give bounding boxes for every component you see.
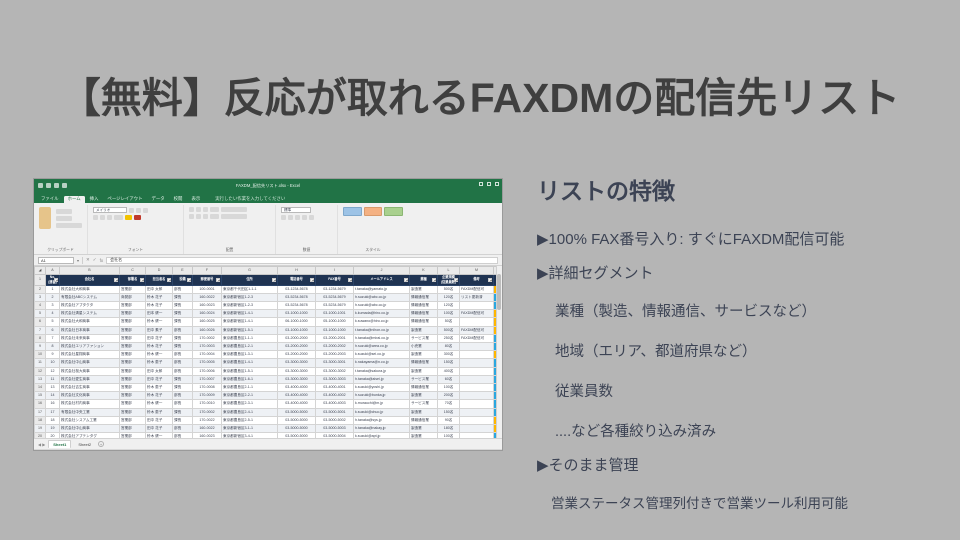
cell-fax[interactable]: 03-1000-1001 — [316, 310, 354, 318]
cell-zip[interactable]: 160-0022 — [193, 293, 222, 301]
cell-company[interactable]: 株式会社日本商事 — [60, 326, 120, 334]
cell-fax[interactable]: 03-5000-5002 — [316, 416, 354, 424]
formula-input[interactable]: 会社名 — [106, 257, 498, 264]
ribbon-group-styles[interactable]: スタイル — [338, 205, 408, 254]
cell-fax[interactable]: 03-2000-2003 — [316, 351, 354, 359]
row-header[interactable]: 20 — [35, 433, 46, 438]
vertical-scrollbar[interactable] — [496, 266, 502, 438]
cell-title[interactable]: 課長 — [173, 310, 193, 318]
cell-size[interactable]: 250名 — [438, 334, 460, 342]
cell-size[interactable]: 120名 — [438, 301, 460, 309]
cell-note[interactable]: FAXDM配信可 — [460, 285, 494, 293]
ribbon[interactable]: クリップボード メイリオ フォント — [34, 203, 502, 255]
decrease-font-icon[interactable] — [143, 208, 148, 213]
tab-file[interactable]: ファイル — [37, 196, 63, 203]
cell-dept[interactable]: 営業部 — [120, 424, 146, 432]
cell-addr[interactable]: 東京都新宿区1-2-3 — [222, 301, 278, 309]
cell-title[interactable]: 部長 — [173, 326, 193, 334]
cell-addr[interactable]: 東京都新宿区1-5-1 — [222, 326, 278, 334]
cell-company[interactable]: 株式会社中山商事 — [60, 424, 120, 432]
cell-zip[interactable]: 170-0008 — [193, 383, 222, 391]
cell-no[interactable]: 12 — [46, 367, 60, 375]
cancel-formula-icon[interactable]: ✕ — [86, 257, 90, 263]
align-bottom-icon[interactable] — [203, 207, 208, 212]
column-header-K[interactable]: K — [410, 267, 438, 275]
column-header-F[interactable]: F — [193, 267, 222, 275]
cell-size[interactable]: 60名 — [438, 375, 460, 383]
cell-addr[interactable]: 東京都新宿区1-2-3 — [222, 293, 278, 301]
cell-no[interactable]: 9 — [46, 351, 60, 359]
table-row[interactable]: 21株式会社大和商事営業部田中 太郎部長100-0001東京都千代田区1-1-1… — [35, 285, 503, 293]
cell-fax[interactable]: 03-5234-5679 — [316, 301, 354, 309]
cell-person[interactable]: 鈴木 花子 — [146, 392, 173, 400]
cell-mail[interactable]: h.suzuki@abc.co.jp — [354, 301, 410, 309]
cell-company[interactable]: 株式会社吉生商事 — [60, 383, 120, 391]
cell-tel[interactable]: 03-5000-5000 — [278, 433, 316, 438]
cell-size[interactable]: 80名 — [438, 342, 460, 350]
cell-company[interactable]: 株式会社清星システム — [60, 310, 120, 318]
enter-formula-icon[interactable]: ✓ — [93, 257, 97, 263]
cell-person[interactable]: 田中 花子 — [146, 375, 173, 383]
cell-industry[interactable]: 小売業 — [410, 342, 438, 350]
cell-size[interactable]: 150名 — [438, 359, 460, 367]
bold-icon[interactable] — [93, 215, 98, 220]
tab-home[interactable]: ホーム — [64, 196, 85, 203]
cell-zip[interactable]: 170-0007 — [193, 375, 222, 383]
table-row[interactable]: 65株式会社大和商事営業部鈴木 健一課長160-0025東京都新宿区1-4-10… — [35, 318, 503, 326]
cell-note[interactable]: FAXDM配信可 — [460, 334, 494, 342]
row-header[interactable]: 10 — [35, 351, 46, 359]
cell-company[interactable]: 株式会社シスアム工業 — [60, 416, 120, 424]
ribbon-group-alignment[interactable]: 配置 — [184, 205, 276, 254]
cell-no[interactable]: 8 — [46, 342, 60, 350]
cell-addr[interactable]: 東京都豊島区1-4-1 — [222, 359, 278, 367]
cell-no[interactable]: 7 — [46, 334, 60, 342]
cell-zip[interactable]: 170-0006 — [193, 367, 222, 375]
increase-decimal-icon[interactable] — [302, 215, 307, 220]
cell-zip[interactable]: 170-0022 — [193, 416, 222, 424]
cell-title[interactable]: 部長 — [173, 359, 193, 367]
table-row[interactable]: 1616株式会社村内商事営業部鈴木 健一部長170-0010東京都豊島区2-3-… — [35, 400, 503, 408]
table-row[interactable]: 98株式会社エリアファション営業部鈴木 花子課長170-0003東京都豊島区1-… — [35, 342, 503, 350]
cell-zip[interactable]: 170-0005 — [193, 359, 222, 367]
tab-insert[interactable]: 挿入 — [86, 196, 103, 203]
cell-mail[interactable]: h.tanaka@nakay.jp — [354, 424, 410, 432]
comma-icon[interactable] — [295, 215, 300, 220]
cell-dept[interactable]: 営業部 — [120, 318, 146, 326]
cell-person[interactable]: 鈴木 花子 — [146, 293, 173, 301]
copy-icon[interactable] — [56, 216, 72, 221]
cell-zip[interactable]: 170-0002 — [193, 408, 222, 416]
cell-size[interactable]: 90名 — [438, 416, 460, 424]
row-header[interactable]: 7 — [35, 326, 46, 334]
cell-note[interactable] — [460, 301, 494, 309]
cell-industry[interactable]: 製造業 — [410, 433, 438, 438]
cell-tel[interactable]: 03-2000-2000 — [278, 334, 316, 342]
filter-dropdown-icon[interactable] — [348, 278, 352, 282]
insert-function-icon[interactable]: fx — [100, 258, 104, 263]
cell-mail[interactable]: k.suzuki@sei.co.jp — [354, 351, 410, 359]
cell-tel[interactable]: 03-3000-3000 — [278, 359, 316, 367]
cell-size[interactable]: 70名 — [438, 400, 460, 408]
row-header[interactable]: 6 — [35, 318, 46, 326]
cell-fax[interactable]: 05-1000-1000 — [316, 318, 354, 326]
column-header-C[interactable]: C — [120, 267, 146, 275]
row-header[interactable]: 15 — [35, 392, 46, 400]
cell-mail[interactable]: t.tanaka@sakura.jp — [354, 367, 410, 375]
cell-title[interactable]: 課長 — [173, 334, 193, 342]
cell-tel[interactable]: 03-5000-5000 — [278, 424, 316, 432]
tab-view[interactable]: 表示 — [187, 196, 204, 203]
cell-company[interactable]: 株式会社大和商事 — [60, 318, 120, 326]
cell-tel[interactable]: 03-4000-4000 — [278, 392, 316, 400]
cell-title[interactable]: 部長 — [173, 351, 193, 359]
indent-icon[interactable] — [210, 214, 219, 219]
cell-addr[interactable]: 東京都新宿区3-1-1 — [222, 424, 278, 432]
ribbon-tab-strip[interactable]: ファイル ホーム 挿入 ページレイアウト データ 校閲 表示 実行したい作業を入… — [34, 192, 502, 203]
ribbon-group-clipboard[interactable]: クリップボード — [34, 205, 88, 254]
tab-data[interactable]: データ — [147, 196, 168, 203]
align-top-icon[interactable] — [189, 207, 194, 212]
cell-company[interactable]: 株式会社アプタクタ — [60, 301, 120, 309]
cell-mail[interactable]: k.kumada@hiro.co.jp — [354, 310, 410, 318]
cell-mail[interactable]: h.tanaka@aisei.jp — [354, 375, 410, 383]
cell-no[interactable]: 3 — [46, 301, 60, 309]
number-format-select[interactable]: 標準 — [281, 207, 311, 213]
align-left-icon[interactable] — [189, 214, 194, 219]
cell-dept[interactable]: 営業部 — [120, 285, 146, 293]
cell-no[interactable]: 17 — [46, 408, 60, 416]
column-header-B[interactable]: B — [60, 267, 120, 275]
cell-note[interactable] — [460, 375, 494, 383]
cell-industry[interactable]: 製造業 — [410, 424, 438, 432]
row-header[interactable]: 3 — [35, 293, 46, 301]
cell-size[interactable]: 100名 — [438, 433, 460, 438]
cell-person[interactable]: 田本 健一 — [146, 310, 173, 318]
table-row[interactable]: 2020株式会社アプテンタグ営業部鈴木 健一部長160-0023東京都新宿区3-… — [35, 433, 503, 438]
cell-mail[interactable]: h.suzuki@abc.co.jp — [354, 293, 410, 301]
table-row[interactable]: 109株式会社星翔商事営業部鈴木 健一部長170-0004東京都豊島区1-3-1… — [35, 351, 503, 359]
cell-style-green[interactable] — [384, 207, 403, 216]
column-header-L[interactable]: L — [438, 267, 460, 275]
cell-industry[interactable]: 情報通信業 — [410, 310, 438, 318]
ribbon-group-number[interactable]: 標準 数値 — [276, 205, 338, 254]
filter-dropdown-icon[interactable] — [488, 278, 492, 282]
cell-company[interactable]: 株式会社桜大商事 — [60, 367, 120, 375]
cell-mail[interactable]: h.tanaka@mirai.co.jp — [354, 334, 410, 342]
cell-industry[interactable]: 製造業 — [410, 351, 438, 359]
font-name-box[interactable]: メイリオ — [93, 207, 127, 213]
cell-addr[interactable]: 東京都豊島区2-4-1 — [222, 408, 278, 416]
table-row[interactable]: 1717有限会社中央工業営業部鈴木 恵子課長170-0002東京都豊島区2-4-… — [35, 408, 503, 416]
restore-icon[interactable] — [487, 182, 491, 186]
cell-zip[interactable]: 170-0010 — [193, 400, 222, 408]
column-header-H[interactable]: H — [278, 267, 316, 275]
cell-industry[interactable]: サービス業 — [410, 400, 438, 408]
cell-person[interactable]: 田中 素子 — [146, 326, 173, 334]
cell-tel[interactable]: 03-2000-2000 — [278, 351, 316, 359]
tab-page-layout[interactable]: ページレイアウト — [103, 196, 146, 203]
cell-dept[interactable]: 営業部 — [120, 342, 146, 350]
cell-addr[interactable]: 東京都豊島区2-1-1 — [222, 383, 278, 391]
sheet-tab-sheet2[interactable]: Sheet2 — [74, 441, 95, 448]
cell-zip[interactable]: 160-0023 — [193, 433, 222, 438]
filter-dropdown-icon[interactable] — [454, 278, 458, 282]
filter-dropdown-icon[interactable] — [432, 278, 436, 282]
cell-person[interactable]: 鈴木 恵子 — [146, 408, 173, 416]
cell-title[interactable]: 課長 — [173, 383, 193, 391]
cell-no[interactable]: 1 — [46, 285, 60, 293]
table-row[interactable]: 76株式会社日本商事営業部田中 素子部長160-0026東京都新宿区1-5-10… — [35, 326, 503, 334]
row-header[interactable]: 16 — [35, 400, 46, 408]
cell-tel[interactable]: 03-2000-2000 — [278, 342, 316, 350]
cell-industry[interactable]: サービス業 — [410, 334, 438, 342]
orientation-icon[interactable] — [210, 207, 219, 212]
column-header-D[interactable]: D — [146, 267, 173, 275]
cell-style-blue[interactable] — [343, 207, 362, 216]
row-header[interactable]: 4 — [35, 301, 46, 309]
column-header-E[interactable]: E — [173, 267, 193, 275]
window-buttons[interactable] — [479, 182, 499, 186]
tell-me-search[interactable]: 実行したい作業を入力してください — [211, 196, 289, 203]
row-header[interactable]: 5 — [35, 310, 46, 318]
filter-dropdown-icon[interactable] — [272, 278, 276, 282]
merge-cells-button[interactable] — [221, 214, 247, 219]
cell-industry[interactable]: 情報通信業 — [410, 293, 438, 301]
cell-note[interactable] — [460, 383, 494, 391]
cell-fax[interactable]: 03-5234-5679 — [316, 293, 354, 301]
cell-note[interactable] — [460, 342, 494, 350]
wrap-text-button[interactable] — [221, 207, 247, 212]
cell-industry[interactable]: 製造業 — [410, 326, 438, 334]
cell-zip[interactable]: 170-0009 — [193, 392, 222, 400]
cell-no[interactable]: 6 — [46, 326, 60, 334]
align-middle-icon[interactable] — [196, 207, 201, 212]
cell-no[interactable]: 16 — [46, 400, 60, 408]
cell-zip[interactable]: 170-0004 — [193, 351, 222, 359]
cell-fax[interactable]: 03-4000-4001 — [316, 383, 354, 391]
cell-size[interactable]: 50名 — [438, 318, 460, 326]
cell-size[interactable]: 300名 — [438, 351, 460, 359]
cell-note[interactable] — [460, 359, 494, 367]
cell-size[interactable]: 200名 — [438, 392, 460, 400]
cell-company[interactable]: 株式会社エリアファション — [60, 342, 120, 350]
cell-addr[interactable]: 東京都豊島区1-5-1 — [222, 367, 278, 375]
cell-person[interactable]: 鈴木 健一 — [146, 318, 173, 326]
cell-note[interactable] — [460, 408, 494, 416]
cell-note[interactable]: FAXDM配信可 — [460, 326, 494, 334]
cell-mail[interactable]: k.suzuki@chuo.jp — [354, 408, 410, 416]
filter-dropdown-icon[interactable] — [140, 278, 144, 282]
add-sheet-icon[interactable]: + — [98, 441, 104, 447]
cell-note[interactable] — [460, 424, 494, 432]
table-row[interactable]: 1110株式会社中山商事営業部鈴木 恵子部長170-0005東京都豊島区1-4-… — [35, 359, 503, 367]
cell-addr[interactable]: 東京都豊島区2-2-1 — [222, 392, 278, 400]
borders-icon[interactable] — [114, 215, 123, 220]
cell-no[interactable]: 19 — [46, 424, 60, 432]
cell-size[interactable]: 150名 — [438, 408, 460, 416]
cell-title[interactable]: 部長 — [173, 367, 193, 375]
cell-addr[interactable]: 東京都豊島区1-3-1 — [222, 351, 278, 359]
cell-title[interactable]: 課長 — [173, 293, 193, 301]
cell-no[interactable]: 18 — [46, 416, 60, 424]
cell-fax[interactable]: 03-3000-3003 — [316, 375, 354, 383]
cell-note[interactable] — [460, 433, 494, 438]
formula-bar[interactable]: A1 ▾ ✕ ✓ fx 会社名 — [34, 255, 502, 266]
close-icon[interactable] — [495, 182, 499, 186]
cell-person[interactable]: 田中 太郎 — [146, 285, 173, 293]
italic-icon[interactable] — [100, 215, 105, 220]
row-header[interactable]: 14 — [35, 383, 46, 391]
cell-industry[interactable]: 製造業 — [410, 367, 438, 375]
cell-note[interactable] — [460, 351, 494, 359]
table-row[interactable]: 1919株式会社中山商事営業部田中 花子部長160-0022東京都新宿区3-1-… — [35, 424, 503, 432]
cell-note[interactable] — [460, 367, 494, 375]
underline-icon[interactable] — [107, 215, 112, 220]
row-header[interactable]: 17 — [35, 408, 46, 416]
cell-fax[interactable]: 03-2000-2002 — [316, 342, 354, 350]
cell-industry[interactable]: 製造業 — [410, 408, 438, 416]
select-all-corner[interactable]: ◢ — [35, 267, 46, 275]
fill-color-icon[interactable] — [125, 215, 132, 220]
font-color-icon[interactable] — [134, 215, 141, 220]
filter-dropdown-icon[interactable] — [54, 278, 58, 282]
column-header-M[interactable]: M — [460, 267, 494, 275]
cell-company[interactable]: 株式会社大和商事 — [60, 285, 120, 293]
cell-no[interactable]: 20 — [46, 433, 60, 438]
ribbon-group-font[interactable]: メイリオ フォント — [88, 205, 184, 254]
cell-dept[interactable]: 商発部 — [120, 293, 146, 301]
cell-addr[interactable]: 東京都豊島区2-5-1 — [222, 416, 278, 424]
filter-dropdown-icon[interactable] — [310, 278, 314, 282]
cell-tel[interactable]: 03-4000-4000 — [278, 383, 316, 391]
cell-note[interactable]: FAXDM配信可 — [460, 310, 494, 318]
column-header-J[interactable]: J — [354, 267, 410, 275]
table-row[interactable]: 1212株式会社桜大商事営業部田中 太郎部長170-0006東京都豊島区1-5-… — [35, 367, 503, 375]
column-header-I[interactable]: I — [316, 267, 354, 275]
row-header[interactable]: 12 — [35, 367, 46, 375]
cell-company[interactable]: 有限会社中央工業 — [60, 408, 120, 416]
data-table[interactable]: ◢ABCDEFGHIJKLMN1No.(連番)会社名部署名担当者名役職郵便番号住… — [34, 266, 502, 438]
cell-no[interactable]: 11 — [46, 375, 60, 383]
cell-fax[interactable]: 03-5000-5004 — [316, 433, 354, 438]
name-box[interactable]: A1 — [38, 257, 74, 264]
cell-tel[interactable]: 06-1000-1000 — [278, 318, 316, 326]
cell-fax[interactable]: 03-2000-2001 — [316, 334, 354, 342]
cell-mail[interactable]: h.suzuki@area.co.jp — [354, 342, 410, 350]
cell-zip[interactable]: 160-0025 — [193, 318, 222, 326]
cell-industry[interactable]: 情報通信業 — [410, 318, 438, 326]
cell-no[interactable]: 4 — [46, 310, 60, 318]
align-right-icon[interactable] — [203, 214, 208, 219]
cell-title[interactable]: 課長 — [173, 342, 193, 350]
cell-tel[interactable]: 03-4000-4000 — [278, 400, 316, 408]
cell-person[interactable]: 鈴木 健一 — [146, 400, 173, 408]
table-row[interactable]: 54株式会社清星システム営業部田本 健一課長160-0024東京都新宿区1-4-… — [35, 310, 503, 318]
cell-fax[interactable]: 03-4000-4002 — [316, 392, 354, 400]
currency-icon[interactable] — [281, 215, 286, 220]
cell-fax[interactable]: 03-5000-5003 — [316, 424, 354, 432]
cell-dept[interactable]: 営業部 — [120, 310, 146, 318]
table-row[interactable]: 1514株式会社文化商事営業部鈴木 花子部長170-0009東京都豊島区2-2-… — [35, 392, 503, 400]
cell-dept[interactable]: 営業部 — [120, 383, 146, 391]
cell-tel[interactable]: 03-1234-5678 — [278, 285, 316, 293]
row-header[interactable]: 2 — [35, 285, 46, 293]
table-row[interactable]: 1818株式会社シスアム工業営業部田中 花子課長170-0022東京都豊島区2-… — [35, 416, 503, 424]
cell-mail[interactable]: h.tanaka@sys.jp — [354, 416, 410, 424]
cell-addr[interactable]: 東京都千代田区1-1-1 — [222, 285, 278, 293]
cell-addr[interactable]: 東京都新宿区1-4-1 — [222, 310, 278, 318]
row-header[interactable]: 13 — [35, 375, 46, 383]
cell-company[interactable]: 株式会社村内商事 — [60, 400, 120, 408]
cell-addr[interactable]: 東京都新宿区1-4-1 — [222, 318, 278, 326]
table-row[interactable]: 43株式会社アプタクタ営業部鈴木 花子課長160-0023東京都新宿区1-2-3… — [35, 301, 503, 309]
cell-fax[interactable]: 03-5000-5001 — [316, 408, 354, 416]
filter-dropdown-icon[interactable] — [187, 278, 191, 282]
cell-title[interactable]: 課長 — [173, 301, 193, 309]
cell-dept[interactable]: 営業部 — [120, 375, 146, 383]
cell-size[interactable]: 400名 — [438, 367, 460, 375]
cell-dept[interactable]: 営業部 — [120, 392, 146, 400]
filter-dropdown-icon[interactable] — [114, 278, 118, 282]
row-header[interactable]: 9 — [35, 342, 46, 350]
increase-font-icon[interactable] — [136, 208, 141, 213]
format-painter-icon[interactable] — [56, 223, 82, 228]
cell-mail[interactable]: k.murauchi@m.jp — [354, 400, 410, 408]
row-header[interactable]: 11 — [35, 359, 46, 367]
cell-title[interactable]: 課長 — [173, 408, 193, 416]
cell-title[interactable]: 部長 — [173, 433, 193, 438]
cell-zip[interactable]: 100-0001 — [193, 285, 222, 293]
cell-size[interactable]: 180名 — [438, 424, 460, 432]
cell-industry[interactable]: 製造業 — [410, 285, 438, 293]
cell-no[interactable]: 13 — [46, 383, 60, 391]
cell-size[interactable]: 500名 — [438, 285, 460, 293]
cell-industry[interactable]: 情報通信業 — [410, 383, 438, 391]
cell-addr[interactable]: 東京都豊島区1-2-1 — [222, 342, 278, 350]
cell-dept[interactable]: 営業部 — [120, 408, 146, 416]
cell-addr[interactable]: 東京都豊島区1-6-1 — [222, 375, 278, 383]
cell-dept[interactable]: 営業部 — [120, 326, 146, 334]
cell-tel[interactable]: 03-1000-1000 — [278, 326, 316, 334]
cell-person[interactable]: 田中 花子 — [146, 416, 173, 424]
cell-mail[interactable]: k.suwano@hiro.co.jp — [354, 318, 410, 326]
cell-zip[interactable]: 170-0002 — [193, 334, 222, 342]
cell-title[interactable]: 課長 — [173, 375, 193, 383]
cell-mail[interactable]: t.tanaka@nihon.co.jp — [354, 326, 410, 334]
cell-person[interactable]: 鈴木 恵子 — [146, 383, 173, 391]
cell-size[interactable]: 100名 — [438, 310, 460, 318]
cell-industry[interactable]: 情報通信業 — [410, 416, 438, 424]
cell-no[interactable]: 5 — [46, 318, 60, 326]
cell-industry[interactable]: サービス業 — [410, 375, 438, 383]
cell-note[interactable] — [460, 318, 494, 326]
cell-zip[interactable]: 160-0022 — [193, 424, 222, 432]
cell-dept[interactable]: 営業部 — [120, 301, 146, 309]
cell-industry[interactable]: 情報通信業 — [410, 301, 438, 309]
font-size-box[interactable] — [129, 208, 134, 213]
spreadsheet-grid[interactable]: ◢ABCDEFGHIJKLMN1No.(連番)会社名部署名担当者名役職郵便番号住… — [34, 266, 502, 438]
cell-mail[interactable]: k.nakayama@n.co.jp — [354, 359, 410, 367]
cell-no[interactable]: 14 — [46, 392, 60, 400]
cell-tel[interactable]: 03-5000-5000 — [278, 416, 316, 424]
cell-company[interactable]: 株式会社未来商事 — [60, 334, 120, 342]
cell-person[interactable]: 田中 太郎 — [146, 367, 173, 375]
cell-note[interactable] — [460, 416, 494, 424]
table-row[interactable]: 1311株式会社愛生商事営業部田中 花子課長170-0007東京都豊島区1-6-… — [35, 375, 503, 383]
table-row[interactable]: 87株式会社未来商事営業部田中 花子課長170-0002東京都豊島区1-1-10… — [35, 334, 503, 342]
cell-title[interactable]: 部長 — [173, 424, 193, 432]
